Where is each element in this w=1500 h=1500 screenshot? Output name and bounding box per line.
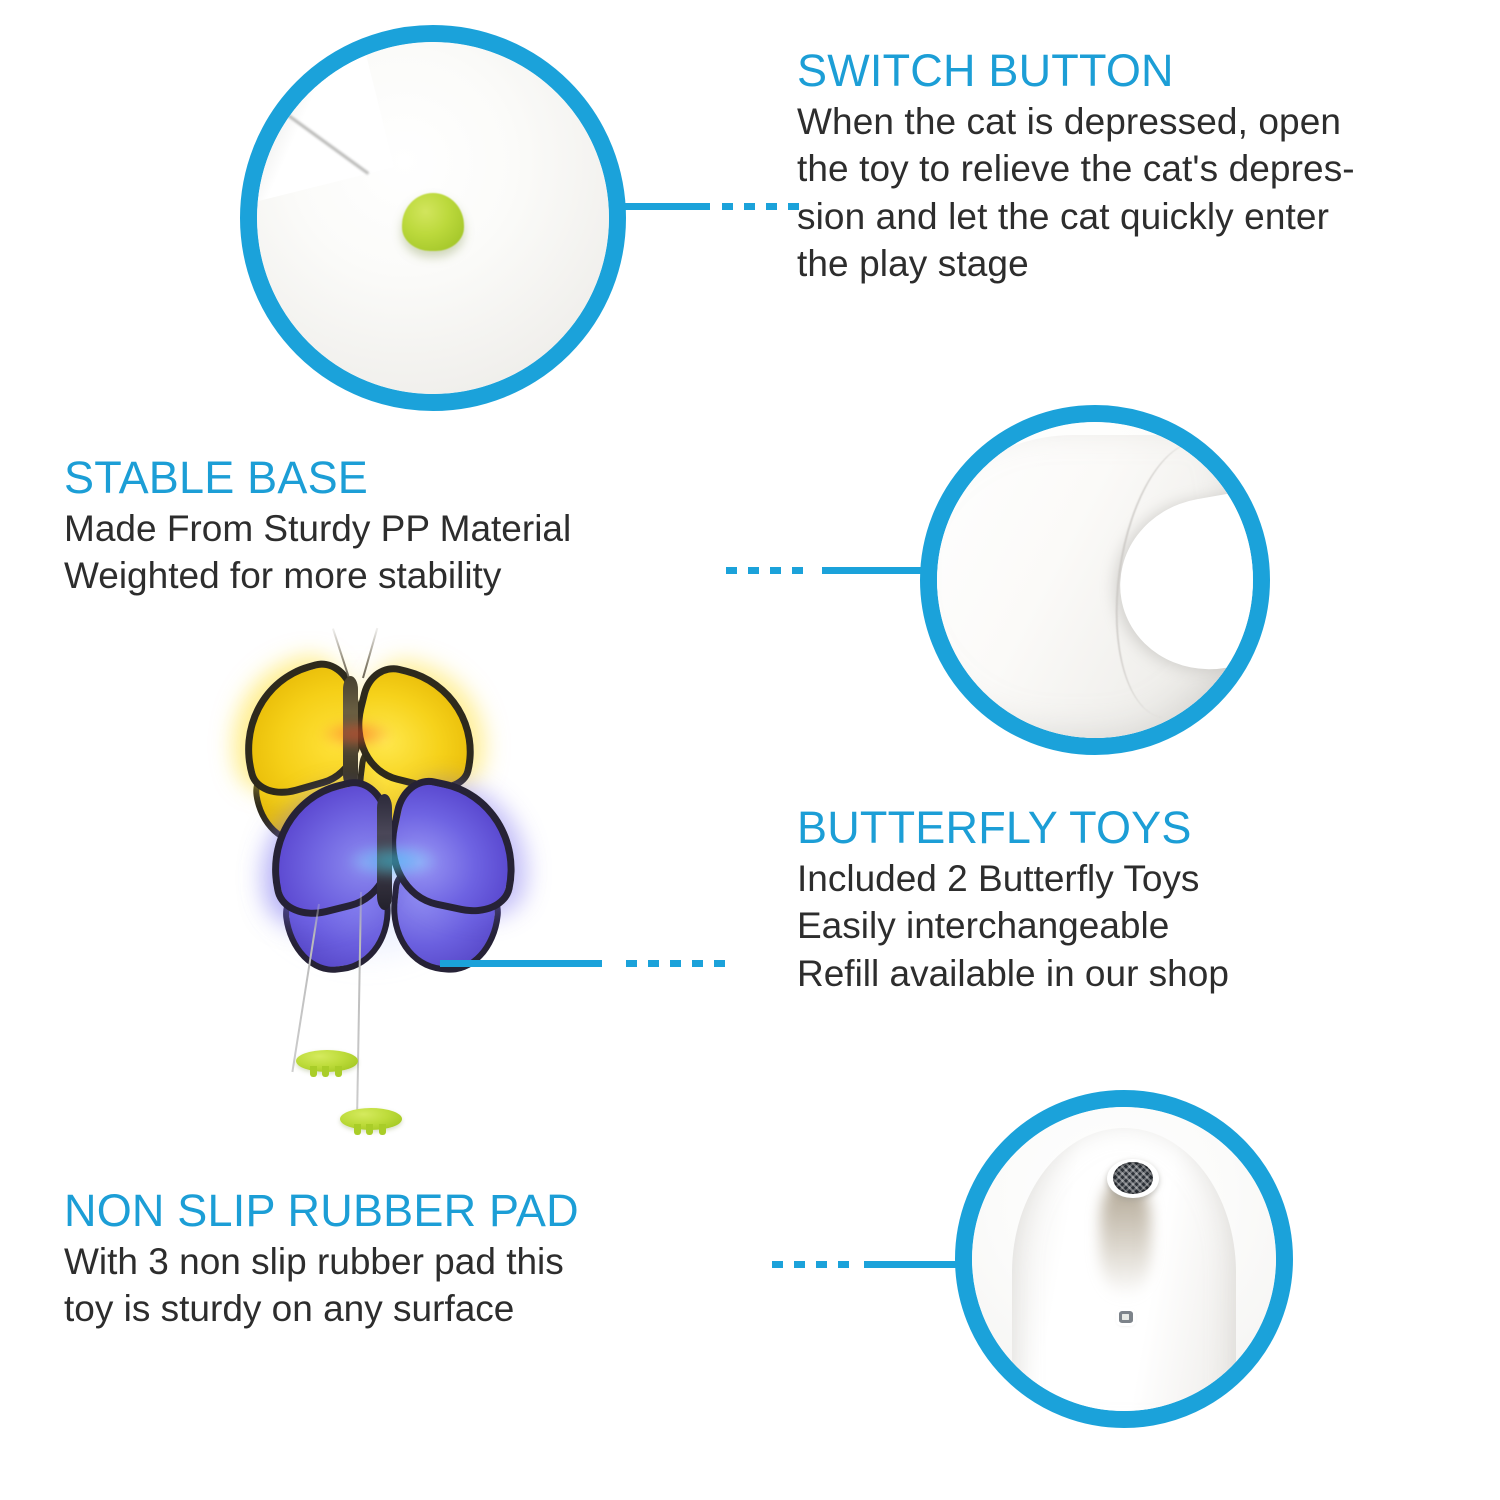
feature-line: Weighted for more stability (64, 552, 571, 599)
connector-dashed-segment (722, 203, 799, 210)
connector-dash (626, 960, 637, 967)
feature-heading-butterfly-toys: BUTTERFLY TOYS (797, 805, 1229, 851)
connector-dash (816, 1261, 827, 1268)
feature-line: the play stage (797, 240, 1355, 287)
green-clip-prong (335, 1066, 342, 1077)
connector-dash (726, 567, 737, 574)
rubber-pad-photo-inner (972, 1107, 1276, 1411)
feature-line: Included 2 Butterfly Toys (797, 855, 1229, 902)
green-clip-prong (354, 1124, 361, 1135)
green-clip-upper (296, 1050, 358, 1076)
switch-button-photo-inner (257, 42, 609, 394)
switch-button-photo (240, 25, 626, 411)
connector-dash (770, 567, 781, 574)
connector-solid-segment (612, 203, 710, 210)
connector-dashed-segment (772, 1261, 849, 1268)
connector-line-rubber-pad (772, 1261, 970, 1268)
green-clip-prong (379, 1124, 386, 1135)
feature-heading-switch-button: SWITCH BUTTON (797, 48, 1355, 94)
connector-dash (722, 203, 733, 210)
stable-base-photo (920, 405, 1270, 755)
green-clip-prong (310, 1066, 317, 1077)
feature-text-stable-base: STABLE BASE Made From Sturdy PP Material… (64, 455, 571, 600)
connector-dash (838, 1261, 849, 1268)
rubber-pad-mesh-icon (1113, 1162, 1153, 1194)
feature-line: sion and let the cat quickly enter (797, 193, 1355, 240)
green-clip-prong (322, 1066, 329, 1077)
yellow-butterfly-led-accent (320, 720, 392, 748)
green-clip-lower (340, 1108, 402, 1134)
feature-line: Easily interchangeable (797, 902, 1229, 949)
feature-text-switch-button: SWITCH BUTTON When the cat is depressed,… (797, 48, 1355, 287)
butterfly-toys-photo (232, 652, 502, 1172)
infographic-canvas: SWITCH BUTTON When the cat is depressed,… (0, 0, 1500, 1500)
connector-dash (744, 203, 755, 210)
connector-dash (766, 203, 777, 210)
connector-dash (670, 960, 681, 967)
feature-text-non-slip-rubber-pad: NON SLIP RUBBER PAD With 3 non slip rubb… (64, 1188, 579, 1333)
feature-line: With 3 non slip rubber pad this (64, 1238, 579, 1285)
connector-dashed-segment (626, 960, 725, 967)
feature-line: Made From Sturdy PP Material (64, 505, 571, 552)
connector-line-stable-base (726, 567, 932, 574)
connector-line-butterfly-toys (440, 960, 742, 967)
connector-dash (794, 1261, 805, 1268)
connector-solid-segment (440, 960, 602, 967)
feature-heading-non-slip-rubber-pad: NON SLIP RUBBER PAD (64, 1188, 579, 1234)
connector-solid-segment (822, 567, 934, 574)
connector-dash (692, 960, 703, 967)
blue-butterfly-led-accent (348, 844, 438, 878)
rubber-pad-photo (955, 1090, 1293, 1428)
feature-line: Refill available in our shop (797, 950, 1229, 997)
feature-line: the toy to relieve the cat's depres- (797, 145, 1355, 192)
connector-dash (748, 567, 759, 574)
connector-dash (772, 1261, 783, 1268)
connector-dash (714, 960, 725, 967)
connector-solid-segment (864, 1261, 972, 1268)
connector-dash (648, 960, 659, 967)
feature-line: When the cat is depressed, open (797, 98, 1355, 145)
feature-text-butterfly-toys: BUTTERFLY TOYS Included 2 Butterfly Toys… (797, 805, 1229, 997)
connector-dash (792, 567, 803, 574)
feature-heading-stable-base: STABLE BASE (64, 455, 571, 501)
connector-dashed-segment (726, 567, 803, 574)
stable-base-photo-inner (937, 422, 1253, 738)
connector-line-switch (612, 203, 792, 210)
base-screw-icon (1119, 1311, 1133, 1324)
green-clip-prong (366, 1124, 373, 1135)
base-corner-shading (257, 42, 394, 208)
feature-line: toy is sturdy on any surface (64, 1285, 579, 1332)
green-switch-knob-icon (402, 193, 464, 251)
